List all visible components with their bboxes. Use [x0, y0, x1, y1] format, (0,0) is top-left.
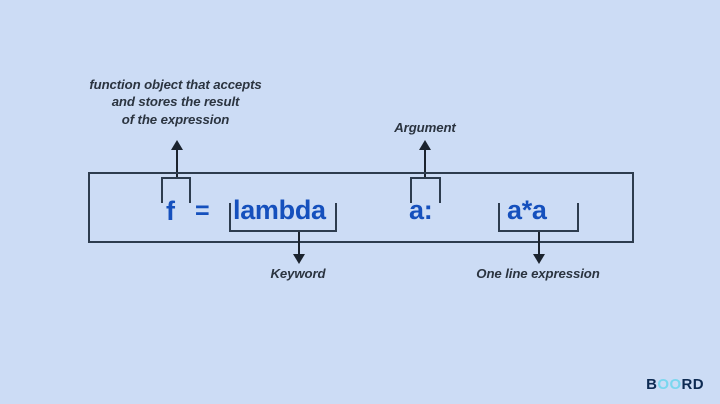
code-token-expression: a*a — [507, 197, 547, 224]
callout-argument: Argument — [360, 119, 490, 136]
code-token-lambda: lambda — [233, 197, 326, 224]
logo-prefix: B — [646, 376, 657, 393]
board-logo: BOORD — [646, 377, 704, 392]
callout-function-object-description: function object that accepts and stores … — [48, 76, 303, 128]
arrow-down-to-expression — [532, 232, 546, 264]
code-token-f: f — [166, 198, 175, 225]
arrowhead-down — [533, 254, 545, 264]
arrow-shaft — [538, 232, 540, 256]
arrowhead-down — [293, 254, 305, 264]
arrow-shaft — [298, 232, 300, 256]
logo-middle-oo: OO — [657, 376, 681, 393]
code-token-equals: = — [195, 199, 209, 224]
diagram-canvas: function object that accepts and stores … — [0, 0, 720, 404]
code-token-argument: a: — [409, 197, 432, 224]
callout-one-line-expression: One line expression — [458, 265, 618, 282]
logo-suffix: RD — [682, 376, 704, 393]
arrow-down-to-keyword — [292, 232, 306, 264]
callout-keyword: Keyword — [248, 265, 348, 282]
